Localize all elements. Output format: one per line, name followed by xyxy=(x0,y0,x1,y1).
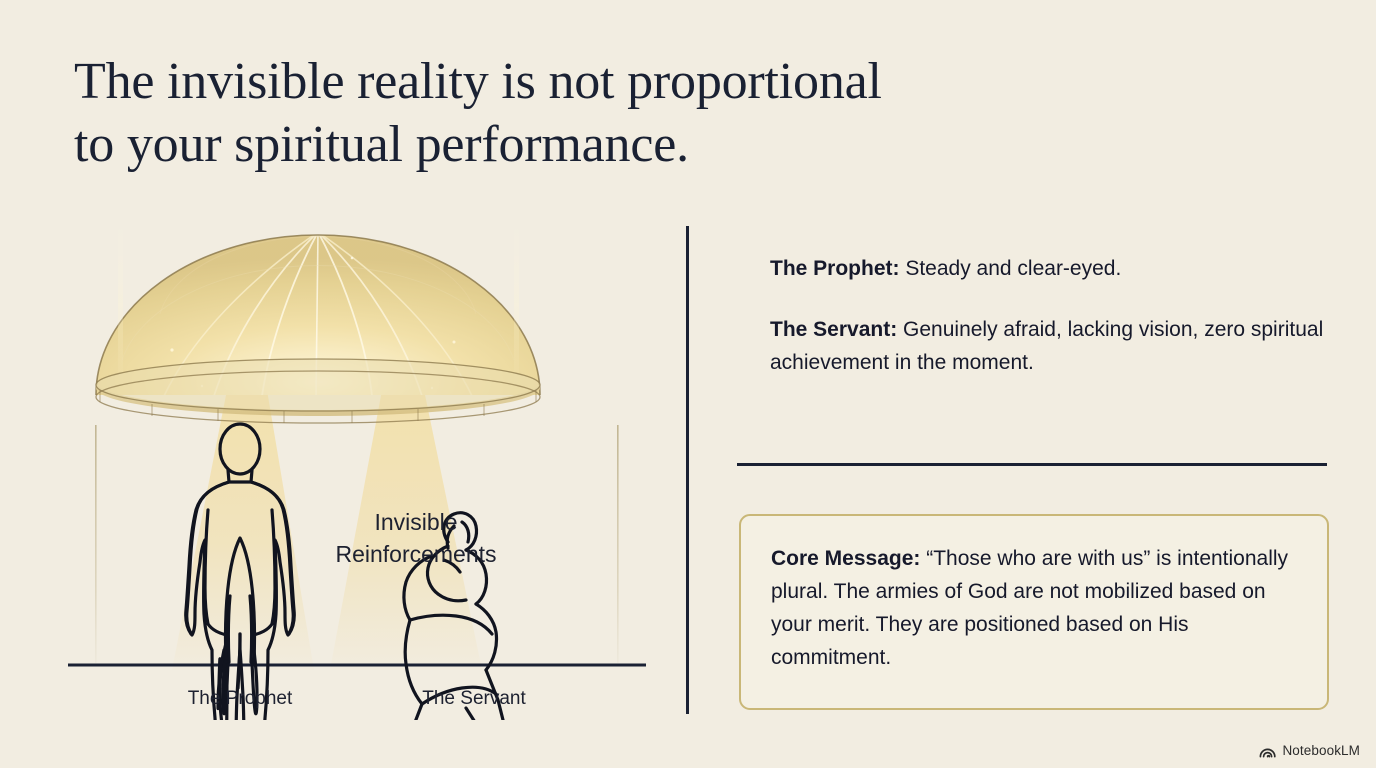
caption-the-prophet: The Prophet xyxy=(140,688,340,710)
title-line-1: The invisible reality is not proportiona… xyxy=(74,50,1054,113)
notebooklm-arc-icon xyxy=(1259,743,1276,758)
bullet-the-prophet-label: The Prophet: xyxy=(770,257,900,280)
bullet-the-prophet: The Prophet: Steady and clear-eyed. xyxy=(770,252,1330,285)
dome-label-line-1: Invisible xyxy=(266,506,566,538)
slide-canvas: The invisible reality is not proportiona… xyxy=(0,0,1376,768)
core-message-text: Core Message: “Those who are with us” is… xyxy=(771,542,1299,674)
bullet-the-prophet-text: Steady and clear-eyed. xyxy=(900,257,1122,280)
title-line-2: to your spiritual performance. xyxy=(74,113,1054,176)
illustration-panel: Invisible Reinforcements xyxy=(52,210,672,720)
page-title: The invisible reality is not proportiona… xyxy=(74,50,1054,176)
bullet-the-servant: The Servant: Genuinely afraid, lacking v… xyxy=(770,313,1330,379)
notebooklm-wordmark: NotebookLM xyxy=(1282,743,1360,758)
notebooklm-brand: NotebookLM xyxy=(1259,743,1360,758)
core-message-box: Core Message: “Those who are with us” is… xyxy=(739,514,1329,710)
core-message-label: Core Message: xyxy=(771,547,920,570)
vertical-divider xyxy=(686,226,689,714)
dome-base-rim xyxy=(96,359,540,423)
right-panel: The Prophet: Steady and clear-eyed. The … xyxy=(770,252,1330,379)
bullet-the-servant-label: The Servant: xyxy=(770,318,897,341)
dome-label: Invisible Reinforcements xyxy=(266,506,566,570)
horizontal-divider xyxy=(737,463,1327,466)
dome-label-line-2: Reinforcements xyxy=(266,538,566,570)
caption-the-servant: The Servant xyxy=(374,688,574,710)
